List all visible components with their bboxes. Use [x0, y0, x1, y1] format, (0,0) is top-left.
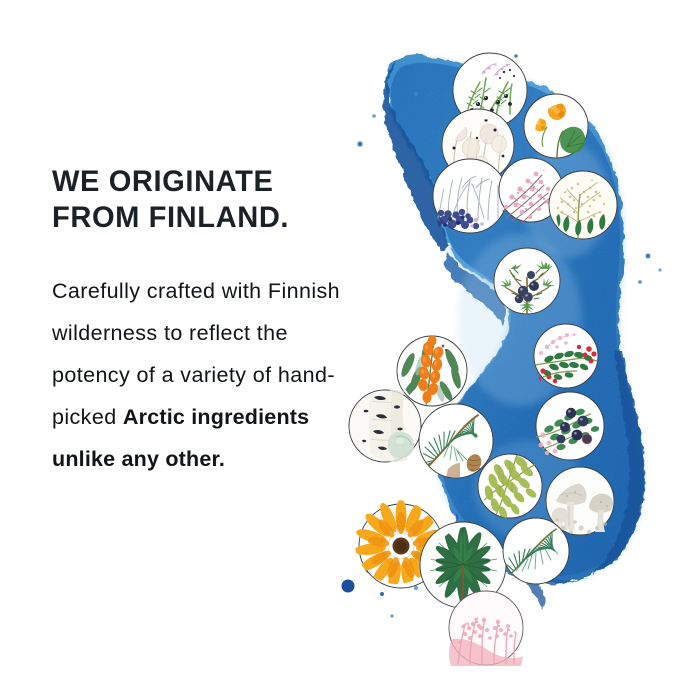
circle-blueberry	[535, 391, 605, 461]
circle-rowan-leaves	[477, 453, 543, 519]
circle-pink-heather	[448, 590, 524, 666]
circle-meadowsweet	[548, 170, 618, 240]
circle-lingonberry	[533, 323, 599, 389]
poster-canvas: WE ORIGINATE FROM FINLAND. Carefully cra…	[0, 0, 679, 679]
circle-cloudberry	[523, 93, 589, 159]
circle-bilberry-grass	[432, 158, 508, 234]
circle-birch-stone	[348, 389, 422, 463]
circle-juniper	[493, 247, 561, 315]
botanical-circle-cluster	[0, 0, 679, 679]
circle-spruce-twig	[502, 517, 570, 585]
